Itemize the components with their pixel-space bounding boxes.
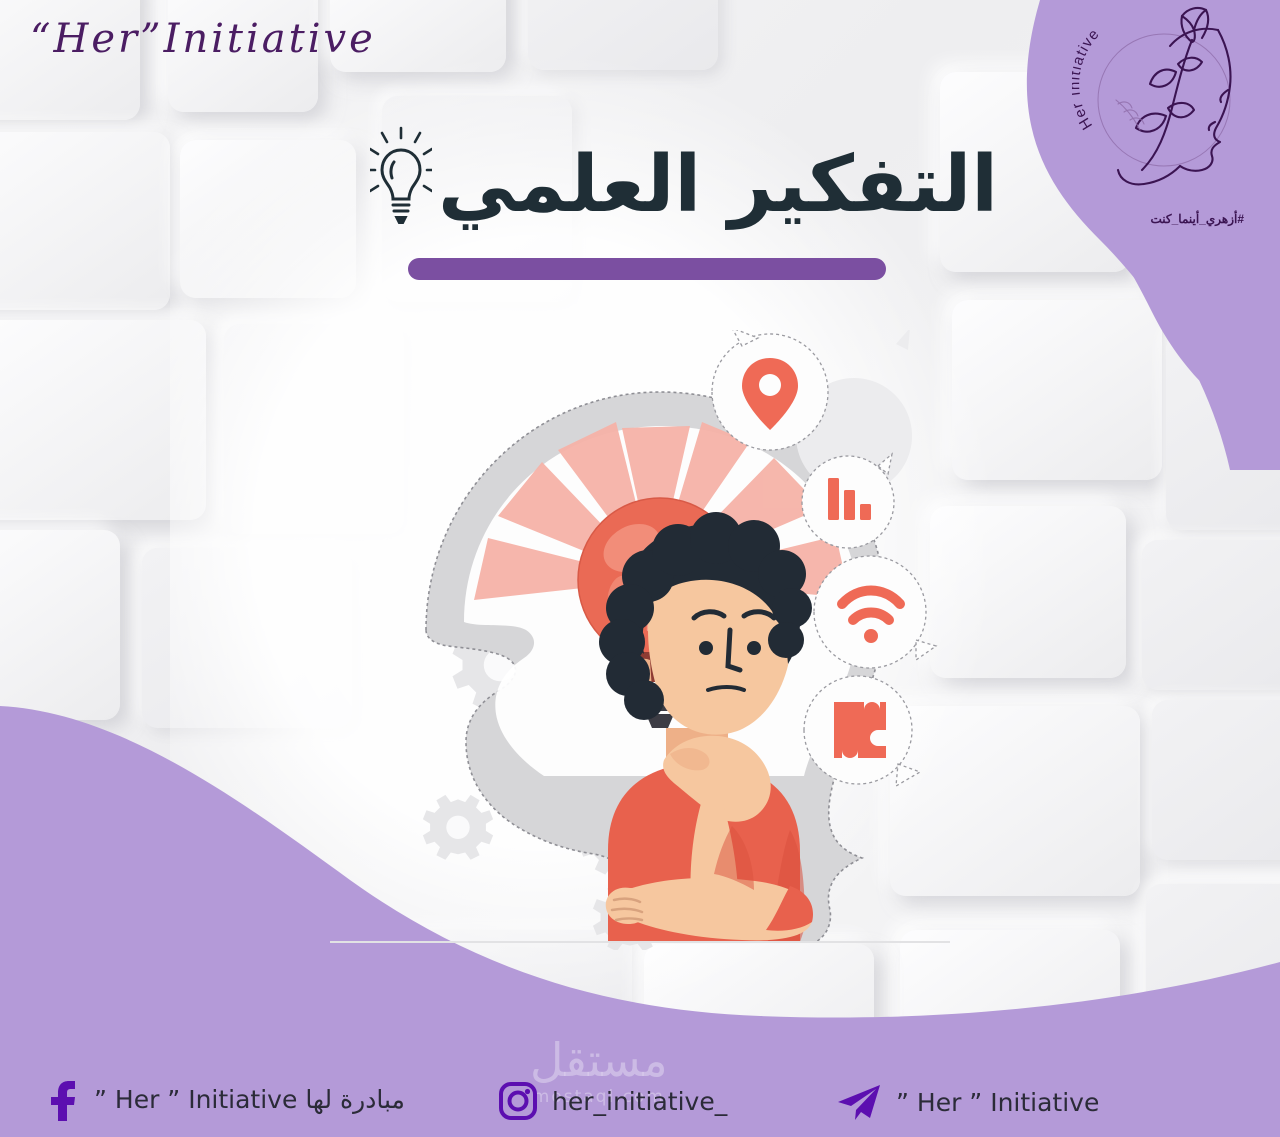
instagram-label: her_initiative_ — [552, 1087, 727, 1116]
woman-profile-tulip-icon: Her Initiative — [1072, 4, 1252, 214]
logo-curved-text: Her Initiative — [1072, 25, 1103, 132]
lightbulb-idea-icon — [370, 120, 432, 230]
page-title: التفكير العلمي — [438, 146, 998, 224]
telegram-label: ” Her ” Initiative — [896, 1088, 1099, 1117]
main-illustration — [330, 330, 950, 950]
puzzle-piece-icon — [834, 702, 886, 758]
bubble-wifi — [814, 556, 936, 668]
social-telegram[interactable]: ” Her ” Initiative — [836, 1083, 1099, 1121]
social-facebook[interactable]: ” Her ” Initiative مبادرة لها — [46, 1077, 405, 1121]
poster-canvas: “Her”Initiative — [0, 0, 1280, 1137]
title-underline-bar — [408, 258, 886, 280]
instagram-icon[interactable] — [498, 1081, 538, 1121]
her-initiative-logo: Her Initiative #أزهري_أينما_كنت — [1072, 4, 1252, 234]
social-instagram[interactable]: her_initiative_ — [498, 1081, 727, 1121]
facebook-icon[interactable] — [46, 1077, 80, 1121]
bubble-puzzle — [804, 676, 920, 786]
bubble-location — [712, 330, 828, 450]
social-links-row: ” Her ” Initiative مبادرة لها her_initia… — [0, 1045, 1280, 1137]
logo-hashtag: #أزهري_أينما_كنت — [1151, 212, 1245, 226]
brand-script-title: “Her”Initiative — [30, 16, 376, 62]
svg-text:Her Initiative: Her Initiative — [1072, 25, 1103, 132]
telegram-icon[interactable] — [836, 1083, 882, 1121]
facebook-label: ” Her ” Initiative مبادرة لها — [94, 1085, 405, 1114]
